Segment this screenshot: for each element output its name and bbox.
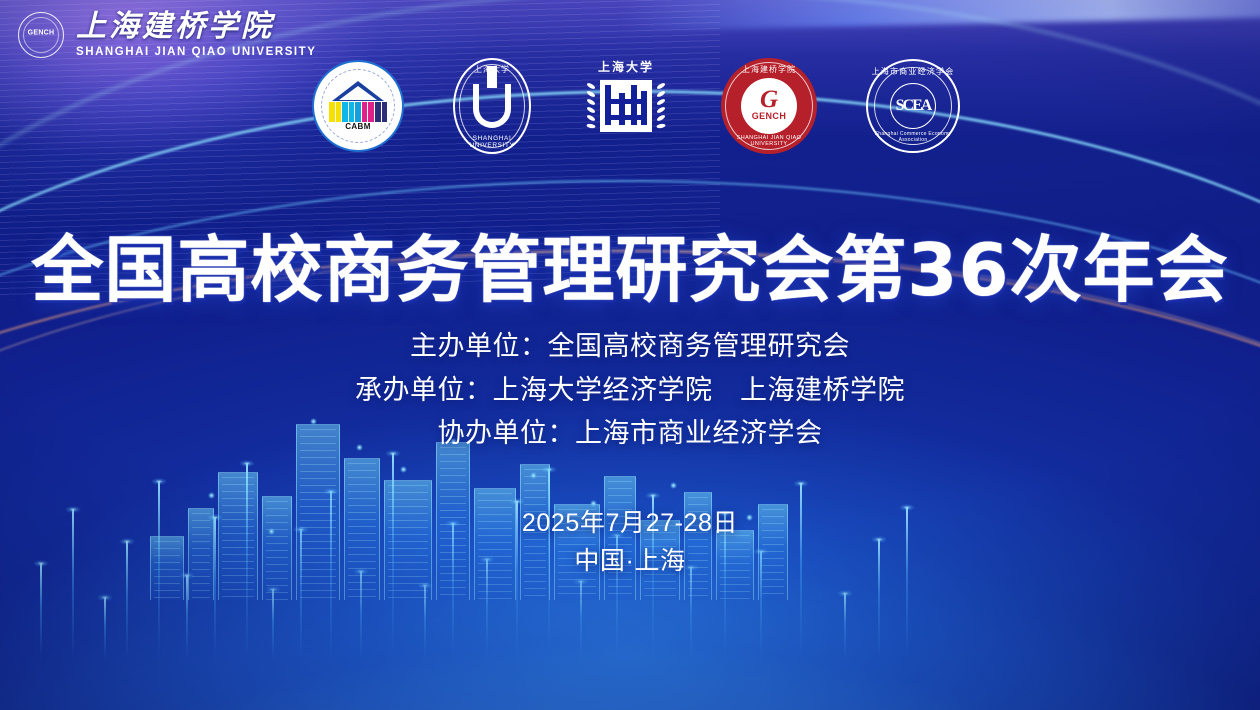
organizer-line-coorganizer: 协办单位：上海市商业经济学会 [0,412,1260,456]
conference-title: 全国高校商务管理研究会第36次年会 [0,234,1260,307]
shu-economics-logo: 上海大学 [580,58,672,154]
event-date: 2025年7月27-28日 [0,505,1260,543]
conference-banner: GENCH 上海建桥学院 SHANGHAI JIAN QIAO UNIVERSI… [0,0,1260,710]
scea-logo: 上海市商业经济学会 SCEA Shanghai Commerce Economy… [866,59,960,153]
cabm-barcode-icon [329,102,387,122]
host-university-name-cn: 上海建桥学院 [76,12,316,42]
host-university-brand: GENCH 上海建桥学院 SHANGHAI JIAN QIAO UNIVERSI… [18,12,316,59]
shu-economics-name-cn: 上海大学 [580,58,672,75]
cabm-logo: CABM [312,60,404,152]
organizer-block: 主办单位：全国高校商务管理研究会 承办单位：上海大学经济学院 上海建桥学院 协办… [0,325,1260,456]
wheat-left-icon [584,82,598,132]
gench-core-icon: G GENCH [741,78,797,134]
organizer-line-undertaker: 承办单位：上海大学经济学院 上海建桥学院 [0,369,1260,413]
host-university-name-en: SHANGHAI JIAN QIAO UNIVERSITY [76,47,316,59]
gench-seal-icon: GENCH [18,12,64,58]
gench-g-monogram-icon: G [760,89,778,110]
wheat-right-icon [654,82,668,132]
scea-name-cn: 上海市商业经济学会 [868,66,958,77]
host-university-text: 上海建桥学院 SHANGHAI JIAN QIAO UNIVERSITY [76,12,316,59]
gench-name-en: SHANGHAI JIAN QIAO UNIVERSITY [721,135,817,147]
gench-logo: 上海建桥学院 G GENCH SHANGHAI JIAN QIAO UNIVER… [721,58,817,154]
gench-abbr-label: GENCH [752,111,787,121]
organizer-line-host: 主办单位：全国高校商务管理研究会 [0,325,1260,369]
cabm-abbr-label: CABM [321,122,395,131]
shanghai-university-monogram-icon [473,84,511,128]
shu-economics-seal-icon [600,80,652,132]
gench-name-cn: 上海建桥学院 [721,64,817,75]
shanghai-university-name-en: SHANGHAI UNIVERSITY [453,135,531,149]
scea-monogram-icon: SCEA [890,83,936,129]
scea-name-en: Shanghai Commerce Economy Association [868,131,958,143]
partner-logo-row: CABM 上海大学 SHANGHAI UNIVERSITY 上海大学 [312,54,960,158]
shanghai-university-logo: 上海大学 SHANGHAI UNIVERSITY [453,58,531,154]
gench-seal-label: GENCH [28,30,55,37]
event-location: 中国·上海 [0,543,1260,581]
event-meta-block: 2025年7月27-28日 中国·上海 [0,505,1260,580]
